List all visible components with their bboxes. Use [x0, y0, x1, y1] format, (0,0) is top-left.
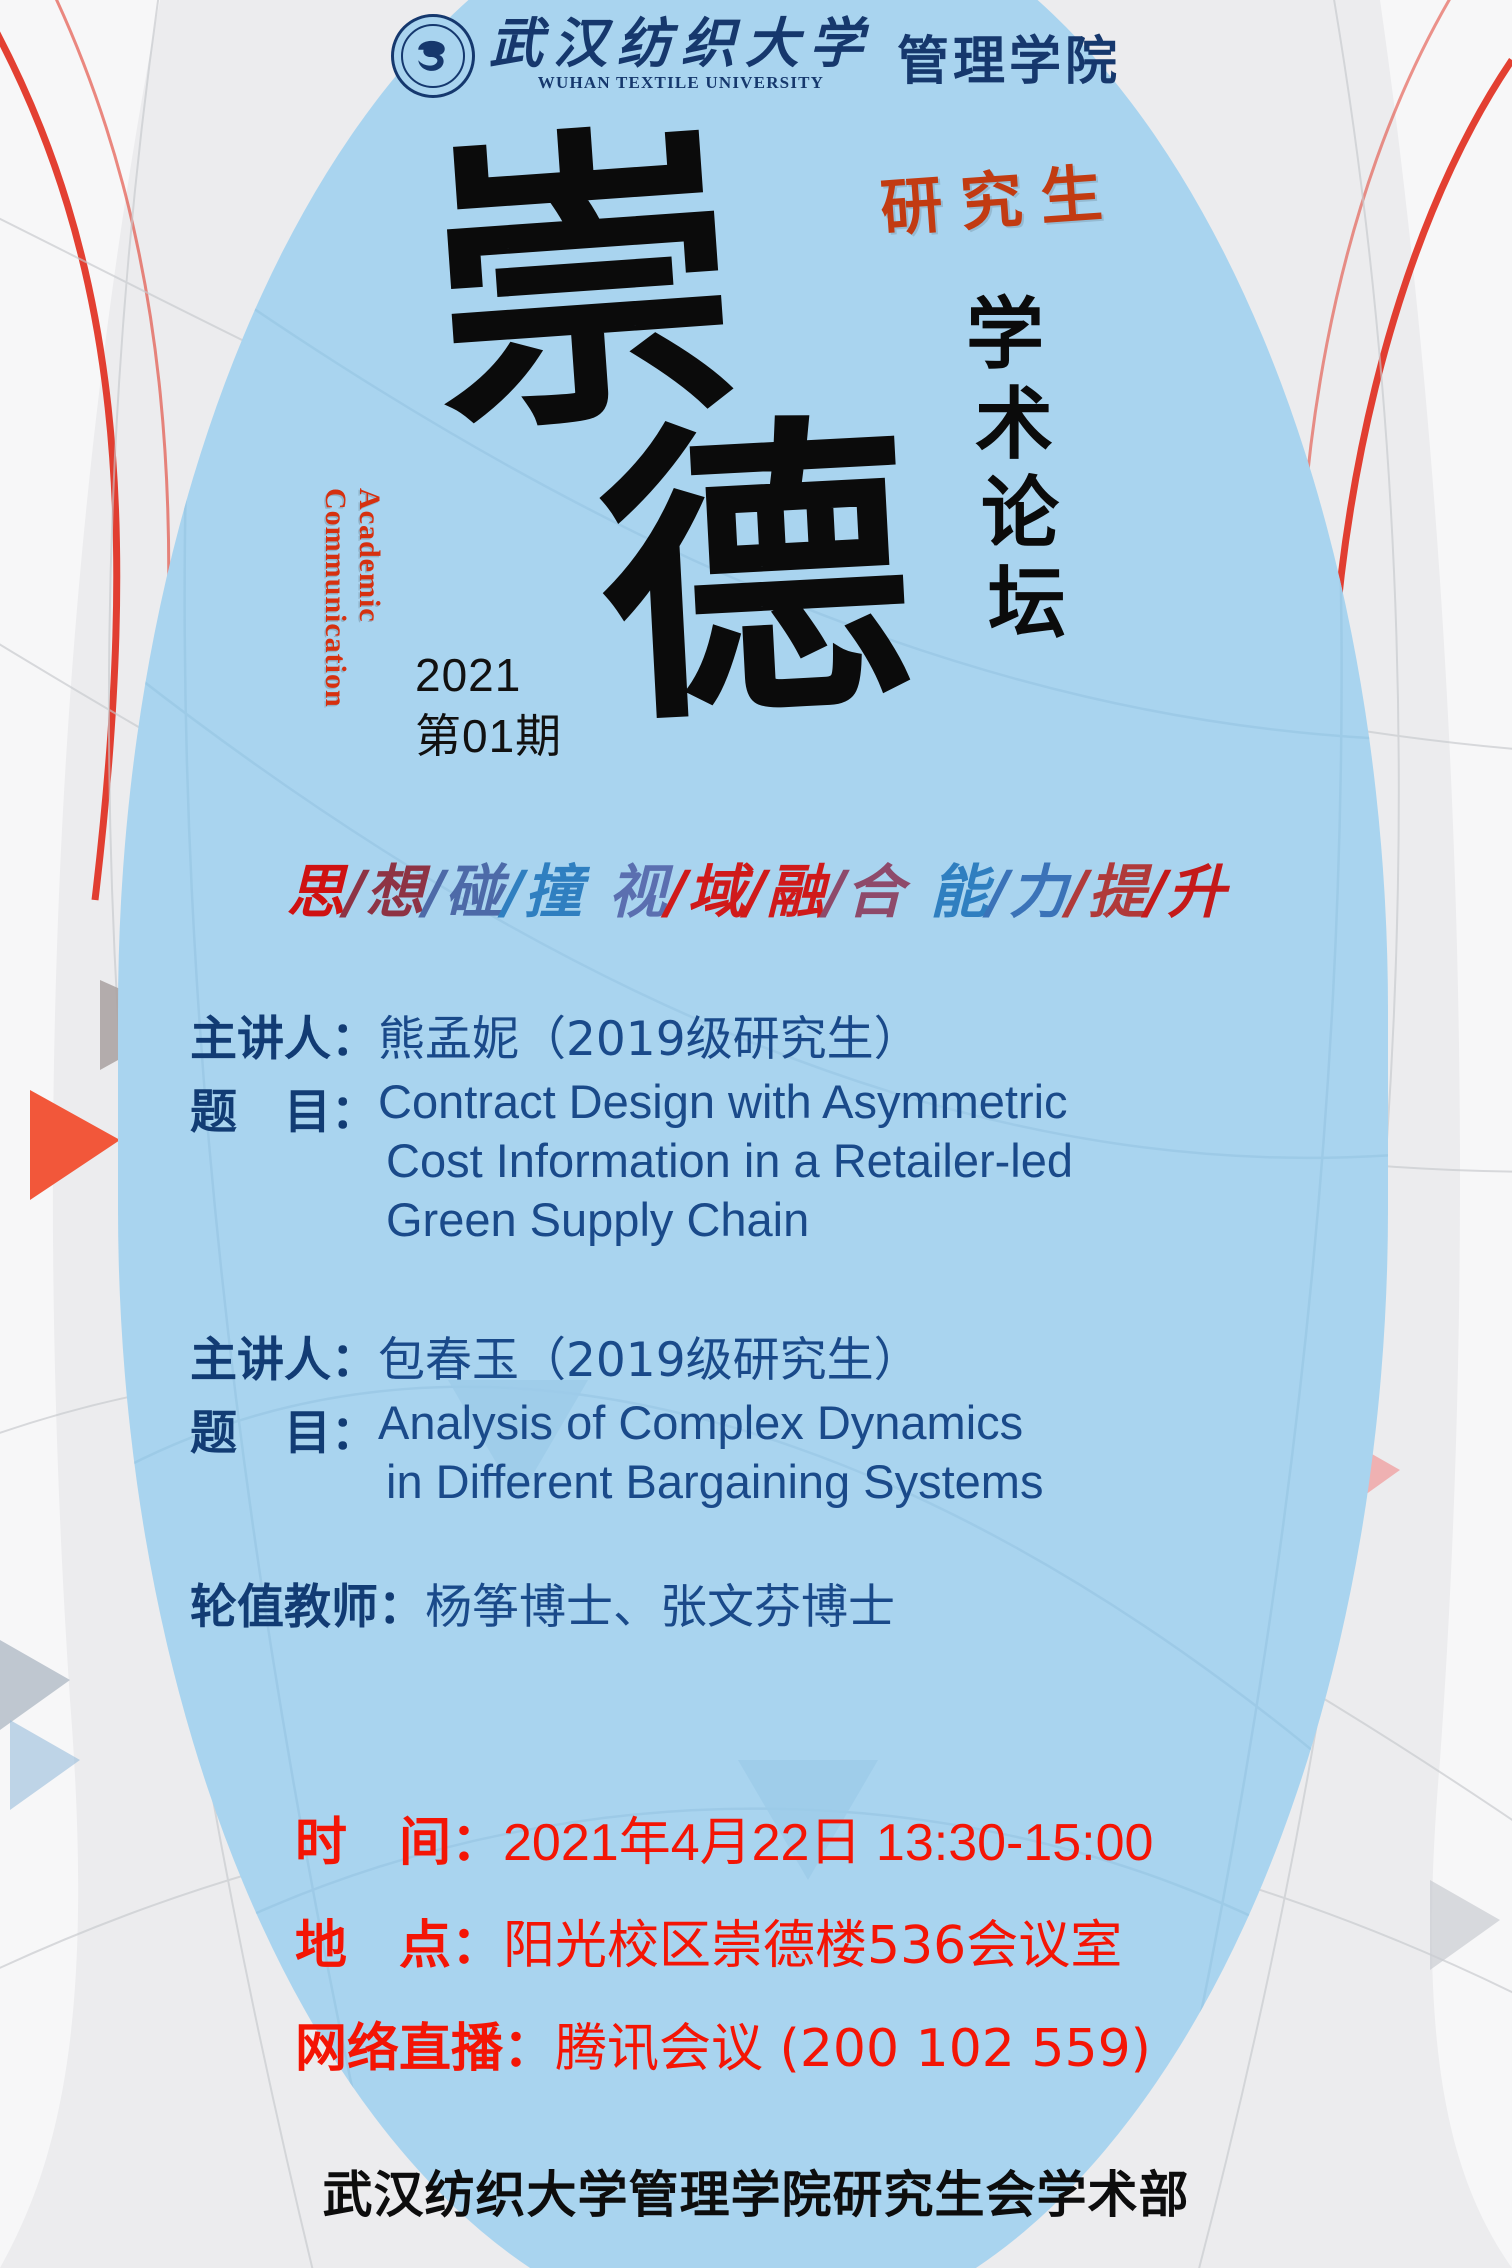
- masthead-vertical-english: Communication Academic: [318, 488, 386, 708]
- university-name-cn: 武汉纺织大学: [489, 19, 873, 70]
- duty-teacher-label: 轮值教师：: [190, 1568, 425, 1637]
- info-location-label: 地 点：: [295, 1903, 503, 1978]
- vertical-en-communication: Communication: [318, 488, 352, 708]
- talk-0-speaker-name: 熊孟妮: [378, 1000, 519, 1069]
- university-seal-icon: [391, 14, 475, 98]
- footer-organizer: 武汉纺织大学管理学院研究生会学术部: [0, 2155, 1512, 2227]
- duty-teacher-row: 轮值教师： 杨筝博士、张文芬博士: [190, 1568, 1360, 1637]
- header-logo-row: 武汉纺织大学 WUHAN TEXTILE UNIVERSITY 管理学院: [0, 14, 1512, 98]
- info-time-value: 2021年4月22日 13:30-15:00: [503, 1800, 1153, 1875]
- slogan-separator-1-2: /: [825, 858, 846, 926]
- slogan-separator-0-2: /: [503, 858, 524, 926]
- talk-1-speaker-name: 包春玉: [378, 1321, 519, 1390]
- slogan-char-1-0: 视: [608, 845, 666, 929]
- poster-content: 武汉纺织大学 WUHAN TEXTILE UNIVERSITY 管理学院 崇 德…: [0, 0, 1512, 2268]
- school-name-cn: 管理学院: [897, 19, 1121, 94]
- talk-0-title-line-2: Green Supply Chain: [378, 1191, 1073, 1250]
- talk-1-title-row: 题 目： Analysis of Complex Dynamics in Dif…: [190, 1394, 1360, 1512]
- talk-1-title-lines: Analysis of Complex Dynamics in Differen…: [378, 1394, 1043, 1512]
- slogan-char-0-1: 想: [366, 845, 424, 929]
- slogan-separator-2-2: /: [1146, 858, 1167, 926]
- vertical-en-academic: Academic: [352, 488, 386, 708]
- slogan-separator-2-1: /: [1067, 858, 1088, 926]
- talks-block: 主讲人： 熊孟妮 （2019级研究生） 题 目： Contract Design…: [190, 1000, 1360, 1637]
- university-name-block: 武汉纺织大学 WUHAN TEXTILE UNIVERSITY: [489, 19, 873, 92]
- talk-0-title-lines: Contract Design with Asymmetric Cost Inf…: [378, 1073, 1073, 1249]
- slogan-char-2-1: 力: [1009, 845, 1067, 929]
- slogan-char-1-2: 融: [767, 845, 825, 929]
- series-char-2: 论: [960, 469, 1080, 559]
- slogan-line: 思/想/碰/撞视/域/融/合能/力/提/升: [0, 845, 1512, 929]
- info-row-time: 时 间： 2021年4月22日 13:30-15:00: [295, 1800, 1395, 1875]
- slogan-char-0-3: 撞: [524, 845, 582, 929]
- talk-1-title-line-0: Analysis of Complex Dynamics: [378, 1394, 1043, 1453]
- info-row-livestream: 网络直播： 腾讯会议 (200 102 559): [295, 2006, 1395, 2081]
- slogan-char-2-3: 升: [1167, 845, 1225, 929]
- info-time-label: 时 间：: [295, 1800, 503, 1875]
- info-livestream-value: 腾讯会议 (200 102 559): [555, 2006, 1151, 2081]
- issue-year: 2021: [415, 645, 562, 706]
- issue-block: 2021 第01期: [415, 645, 562, 766]
- talk-1-speaker-row: 主讲人： 包春玉 （2019级研究生）: [190, 1321, 1360, 1390]
- talks-spacer: [190, 1249, 1360, 1321]
- slogan-char-0-2: 碰: [445, 845, 503, 929]
- slogan-separator-1-0: /: [666, 858, 687, 926]
- talk-1-title-line-1: in Different Bargaining Systems: [378, 1453, 1043, 1512]
- talk-0-title-line-1: Cost Information in a Retailer-led: [378, 1132, 1073, 1191]
- slogan-char-2-2: 提: [1088, 845, 1146, 929]
- slogan-separator-1-1: /: [745, 858, 766, 926]
- poster-root: 武汉纺织大学 WUHAN TEXTILE UNIVERSITY 管理学院 崇 德…: [0, 0, 1512, 2268]
- university-name-en: WUHAN TEXTILE UNIVERSITY: [538, 73, 824, 93]
- slogan-separator-0-0: /: [345, 858, 366, 926]
- series-char-0: 学: [930, 290, 1080, 380]
- talk-0-title-label: 题 目：: [190, 1073, 378, 1142]
- slogan-separator-2-0: /: [988, 858, 1009, 926]
- series-char-3: 坛: [974, 559, 1080, 649]
- slogan-char-1-3: 合: [846, 845, 904, 929]
- info-location-value: 阳光校区崇德楼536会议室: [503, 1903, 1122, 1978]
- slogan-char-2-0: 能: [930, 845, 988, 929]
- info-livestream-label: 网络直播：: [295, 2006, 555, 2081]
- talk-1-speaker-label: 主讲人：: [190, 1321, 378, 1390]
- talk-0-speaker-label: 主讲人：: [190, 1000, 378, 1069]
- calligraphy-char-de: 德: [592, 412, 918, 738]
- teacher-spacer: [190, 1512, 1360, 1568]
- talk-1-speaker-note: （2019级研究生）: [519, 1321, 921, 1390]
- seal-swoosh-icon: [412, 35, 454, 77]
- slogan-char-1-1: 域: [687, 845, 745, 929]
- duty-teacher-value: 杨筝博士、张文芬博士: [425, 1568, 895, 1637]
- slogan-char-0-0: 思: [287, 845, 345, 929]
- issue-number: 第01期: [415, 706, 562, 767]
- talk-1-title-label: 题 目：: [190, 1394, 378, 1463]
- talk-0-speaker-note: （2019级研究生）: [519, 1000, 921, 1069]
- info-row-location: 地 点： 阳光校区崇德楼536会议室: [295, 1903, 1395, 1978]
- talk-0-title-line-0: Contract Design with Asymmetric: [378, 1073, 1073, 1132]
- slogan-separator-0-1: /: [424, 858, 445, 926]
- masthead-kicker: 研究生: [877, 142, 1123, 249]
- talk-0-title-row: 题 目： Contract Design with Asymmetric Cos…: [190, 1073, 1360, 1249]
- series-char-1: 术: [948, 380, 1080, 470]
- talk-0-speaker-row: 主讲人： 熊孟妮 （2019级研究生）: [190, 1000, 1360, 1069]
- event-info-block: 时 间： 2021年4月22日 13:30-15:00 地 点： 阳光校区崇德楼…: [295, 1800, 1395, 2109]
- masthead-series-vertical: 学 术 论 坛: [930, 290, 1080, 649]
